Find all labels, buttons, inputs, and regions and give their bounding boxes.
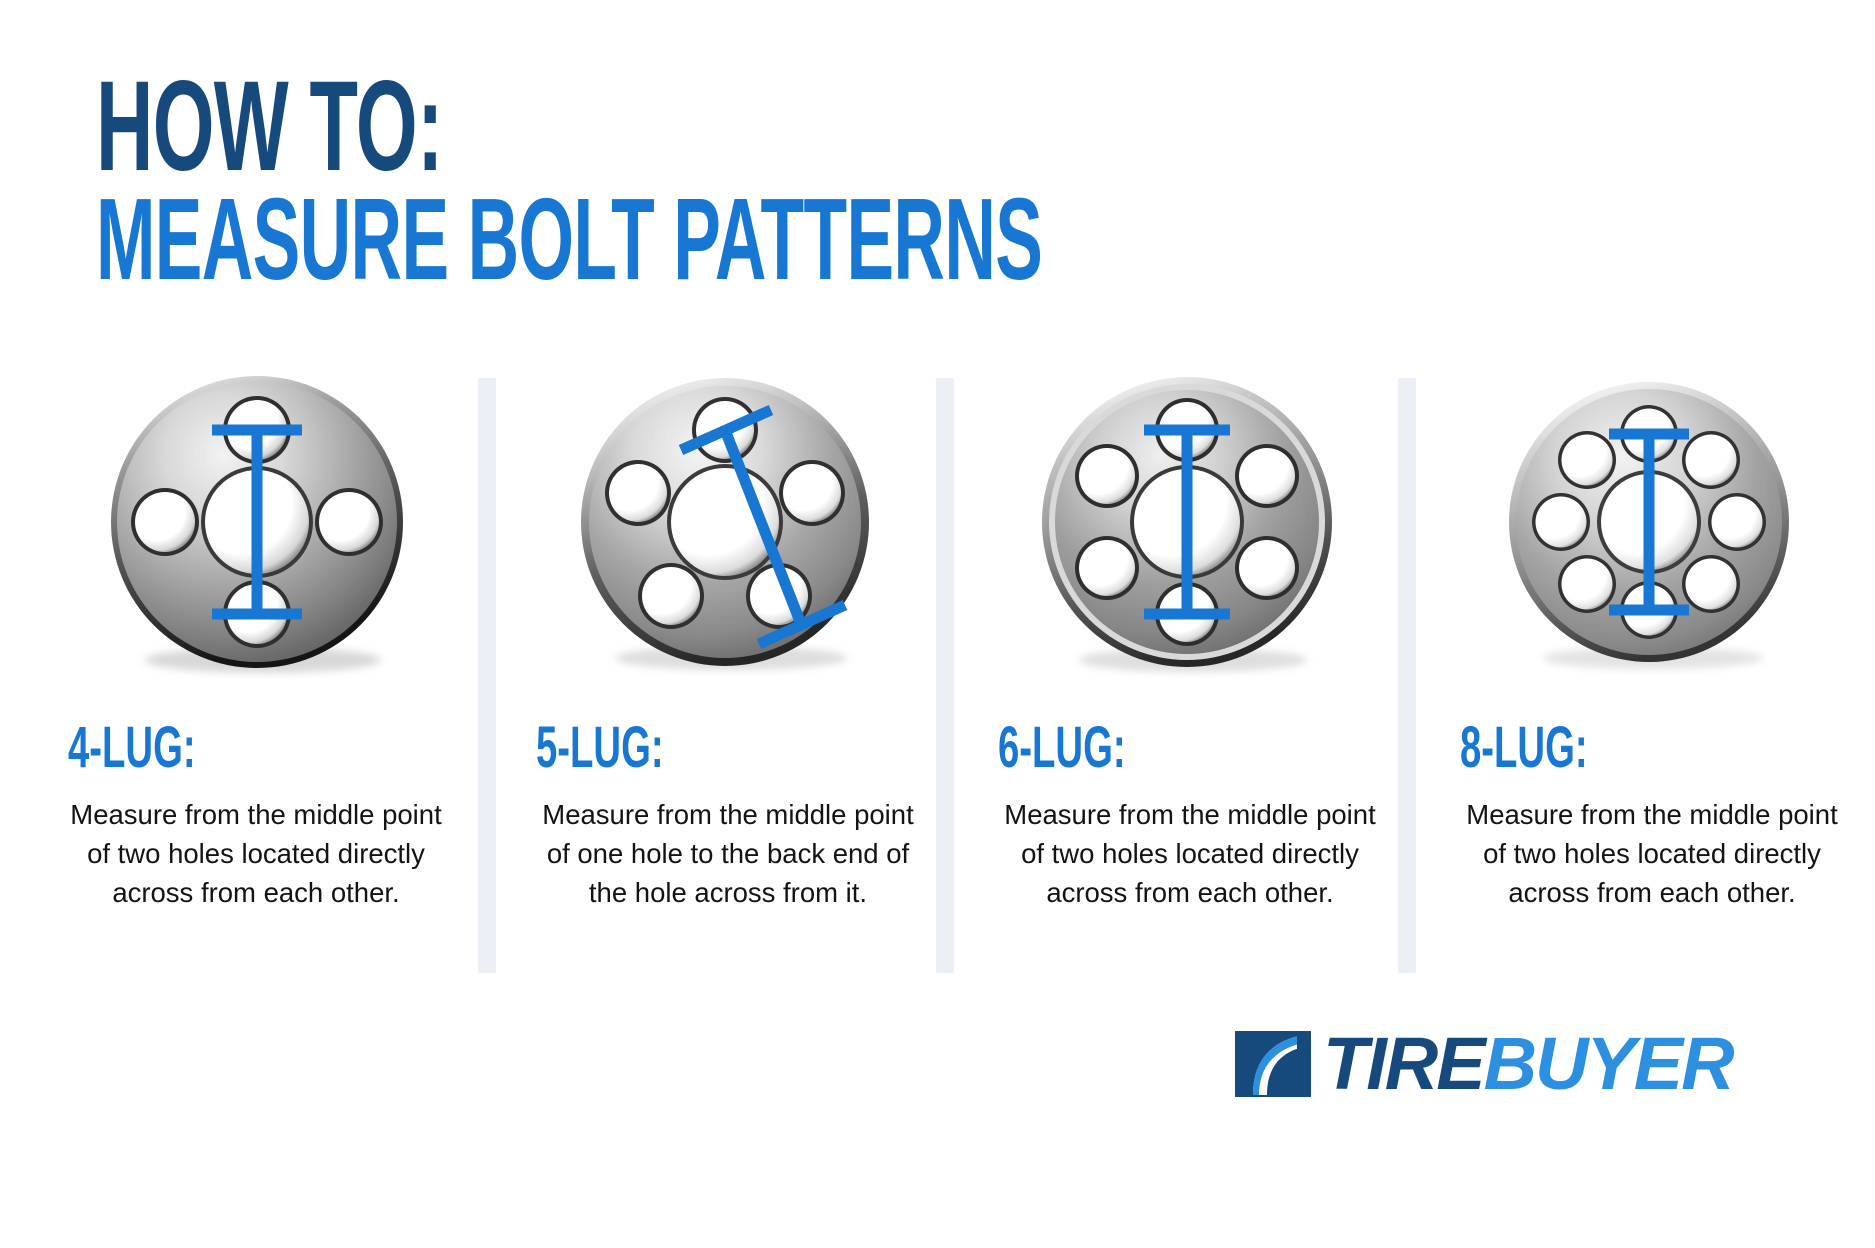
title-line-measure-bolt-patterns: MEASURE BOLT PATTERNS	[96, 188, 1042, 290]
lug-columns: 4-LUG: Measure from the middle point of …	[0, 372, 1875, 1012]
lug-label-6: 6-LUG:	[998, 714, 1257, 781]
lug-label-8: 8-LUG:	[1460, 714, 1719, 781]
logo-text-buyer: BUYER	[1484, 1022, 1733, 1105]
lug-label-4: 4-LUG:	[68, 714, 327, 781]
wheel-hub-8-lug-icon	[1497, 372, 1807, 682]
page-title: HOW TO: MEASURE BOLT PATTERNS	[96, 72, 1635, 290]
lug-column-6: 6-LUG: Measure from the middle point of …	[990, 372, 1390, 912]
wheel-illustration-5-lug	[528, 372, 928, 702]
wheel-hub-6-lug-icon	[1035, 372, 1345, 682]
wheel-illustration-6-lug	[990, 372, 1390, 702]
wheel-illustration-8-lug	[1452, 372, 1852, 702]
tirebuyer-swoosh-icon	[1233, 1025, 1317, 1103]
lug-label-5: 5-LUG:	[536, 714, 795, 781]
top-margin-strip	[0, 0, 1875, 14]
infographic-canvas: HOW TO: MEASURE BOLT PATTERNS	[0, 0, 1875, 1248]
logo-wordmark: TIREBUYER	[1323, 1025, 1733, 1103]
lug-caption-5: Measure from the middle point of one hol…	[528, 795, 928, 912]
lug-column-5: 5-LUG: Measure from the middle point of …	[528, 372, 928, 912]
lug-caption-4: Measure from the middle point of two hol…	[60, 795, 452, 912]
wheel-hub-5-lug-icon	[573, 372, 883, 682]
logo-text-tire: TIRE	[1323, 1022, 1484, 1105]
lug-column-4: 4-LUG: Measure from the middle point of …	[60, 372, 460, 912]
lug-caption-8: Measure from the middle point of two hol…	[1452, 795, 1852, 912]
tirebuyer-logo: TIREBUYER	[1233, 1025, 1733, 1103]
wheel-hub-4-lug-icon	[105, 372, 415, 682]
lug-caption-6: Measure from the middle point of two hol…	[990, 795, 1390, 912]
title-line-how-to: HOW TO:	[96, 72, 1050, 182]
lug-column-8: 8-LUG: Measure from the middle point of …	[1452, 372, 1852, 912]
wheel-illustration-4-lug	[60, 372, 460, 702]
